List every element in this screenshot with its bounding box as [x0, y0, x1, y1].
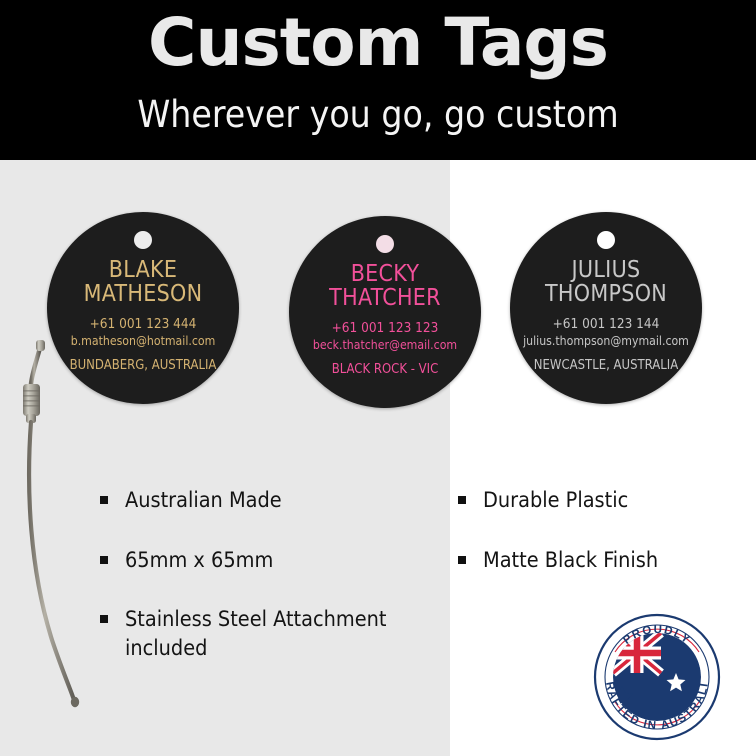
tag-becky-thatcher[interactable]: BECKY THATCHER +61 001 123 123 beck.that… — [289, 216, 481, 408]
header-banner: Custom Tags Wherever you go, go custom — [0, 0, 756, 160]
proudly-crafted-in-australia-badge: PROUDLY CRAFTED IN AUSTRALIA — [592, 612, 722, 742]
custom-tags-product-graphic: Custom Tags Wherever you go, go custom B… — [0, 0, 756, 756]
tag-name-line-1: JULIUS — [516, 258, 696, 282]
tag-phone: +61 001 123 144 — [516, 316, 696, 332]
tag-name-line-2: MATHESON — [53, 282, 233, 306]
tag-engraving: BECKY THATCHER +61 001 123 123 beck.that… — [289, 262, 481, 377]
list-item-label: Matte Black Finish — [483, 547, 658, 576]
bullet-square-icon — [458, 556, 466, 564]
tag-email: julius.thompson@mymail.com — [516, 334, 696, 349]
list-item: 65mm x 65mm — [100, 547, 460, 576]
tag-location: BLACK ROCK - VIC — [295, 362, 475, 378]
list-item: Australian Made — [100, 487, 460, 516]
list-item-label: Australian Made — [125, 487, 282, 516]
list-item: Durable Plastic — [458, 487, 748, 516]
list-item: Stainless Steel Attachment included — [100, 606, 460, 663]
feature-list-left: Australian Made 65mm x 65mm Stainless St… — [100, 487, 460, 694]
tag-phone: +61 001 123 123 — [295, 320, 475, 336]
tag-location: NEWCASTLE, AUSTRALIA — [516, 358, 696, 374]
tag-phone: +61 001 123 444 — [53, 316, 233, 332]
bullet-square-icon — [100, 556, 108, 564]
tag-engraving: JULIUS THOMPSON +61 001 123 144 julius.t… — [510, 258, 702, 373]
bullet-square-icon — [458, 496, 466, 504]
tag-email: beck.thatcher@email.com — [295, 338, 475, 353]
tag-name-line-1: BLAKE — [53, 258, 233, 282]
feature-list-right: Durable Plastic Matte Black Finish — [458, 487, 748, 606]
tag-hole-icon — [597, 231, 615, 249]
list-item-label: 65mm x 65mm — [125, 547, 273, 576]
list-item: Matte Black Finish — [458, 547, 748, 576]
page-title: Custom Tags — [0, 10, 756, 76]
bullet-square-icon — [100, 615, 108, 623]
list-item-label: Stainless Steel Attachment included — [125, 606, 460, 663]
page-subtitle: Wherever you go, go custom — [0, 96, 756, 133]
tag-name-line-2: THATCHER — [295, 286, 475, 310]
tag-hole-icon — [134, 231, 152, 249]
tag-name-line-2: THOMPSON — [516, 282, 696, 306]
stainless-steel-cable-attachment — [0, 340, 110, 710]
list-item-label: Durable Plastic — [483, 487, 628, 516]
bullet-square-icon — [100, 496, 108, 504]
tag-julius-thompson[interactable]: JULIUS THOMPSON +61 001 123 144 julius.t… — [510, 212, 702, 404]
tag-hole-icon — [376, 235, 394, 253]
tag-name-line-1: BECKY — [295, 262, 475, 286]
